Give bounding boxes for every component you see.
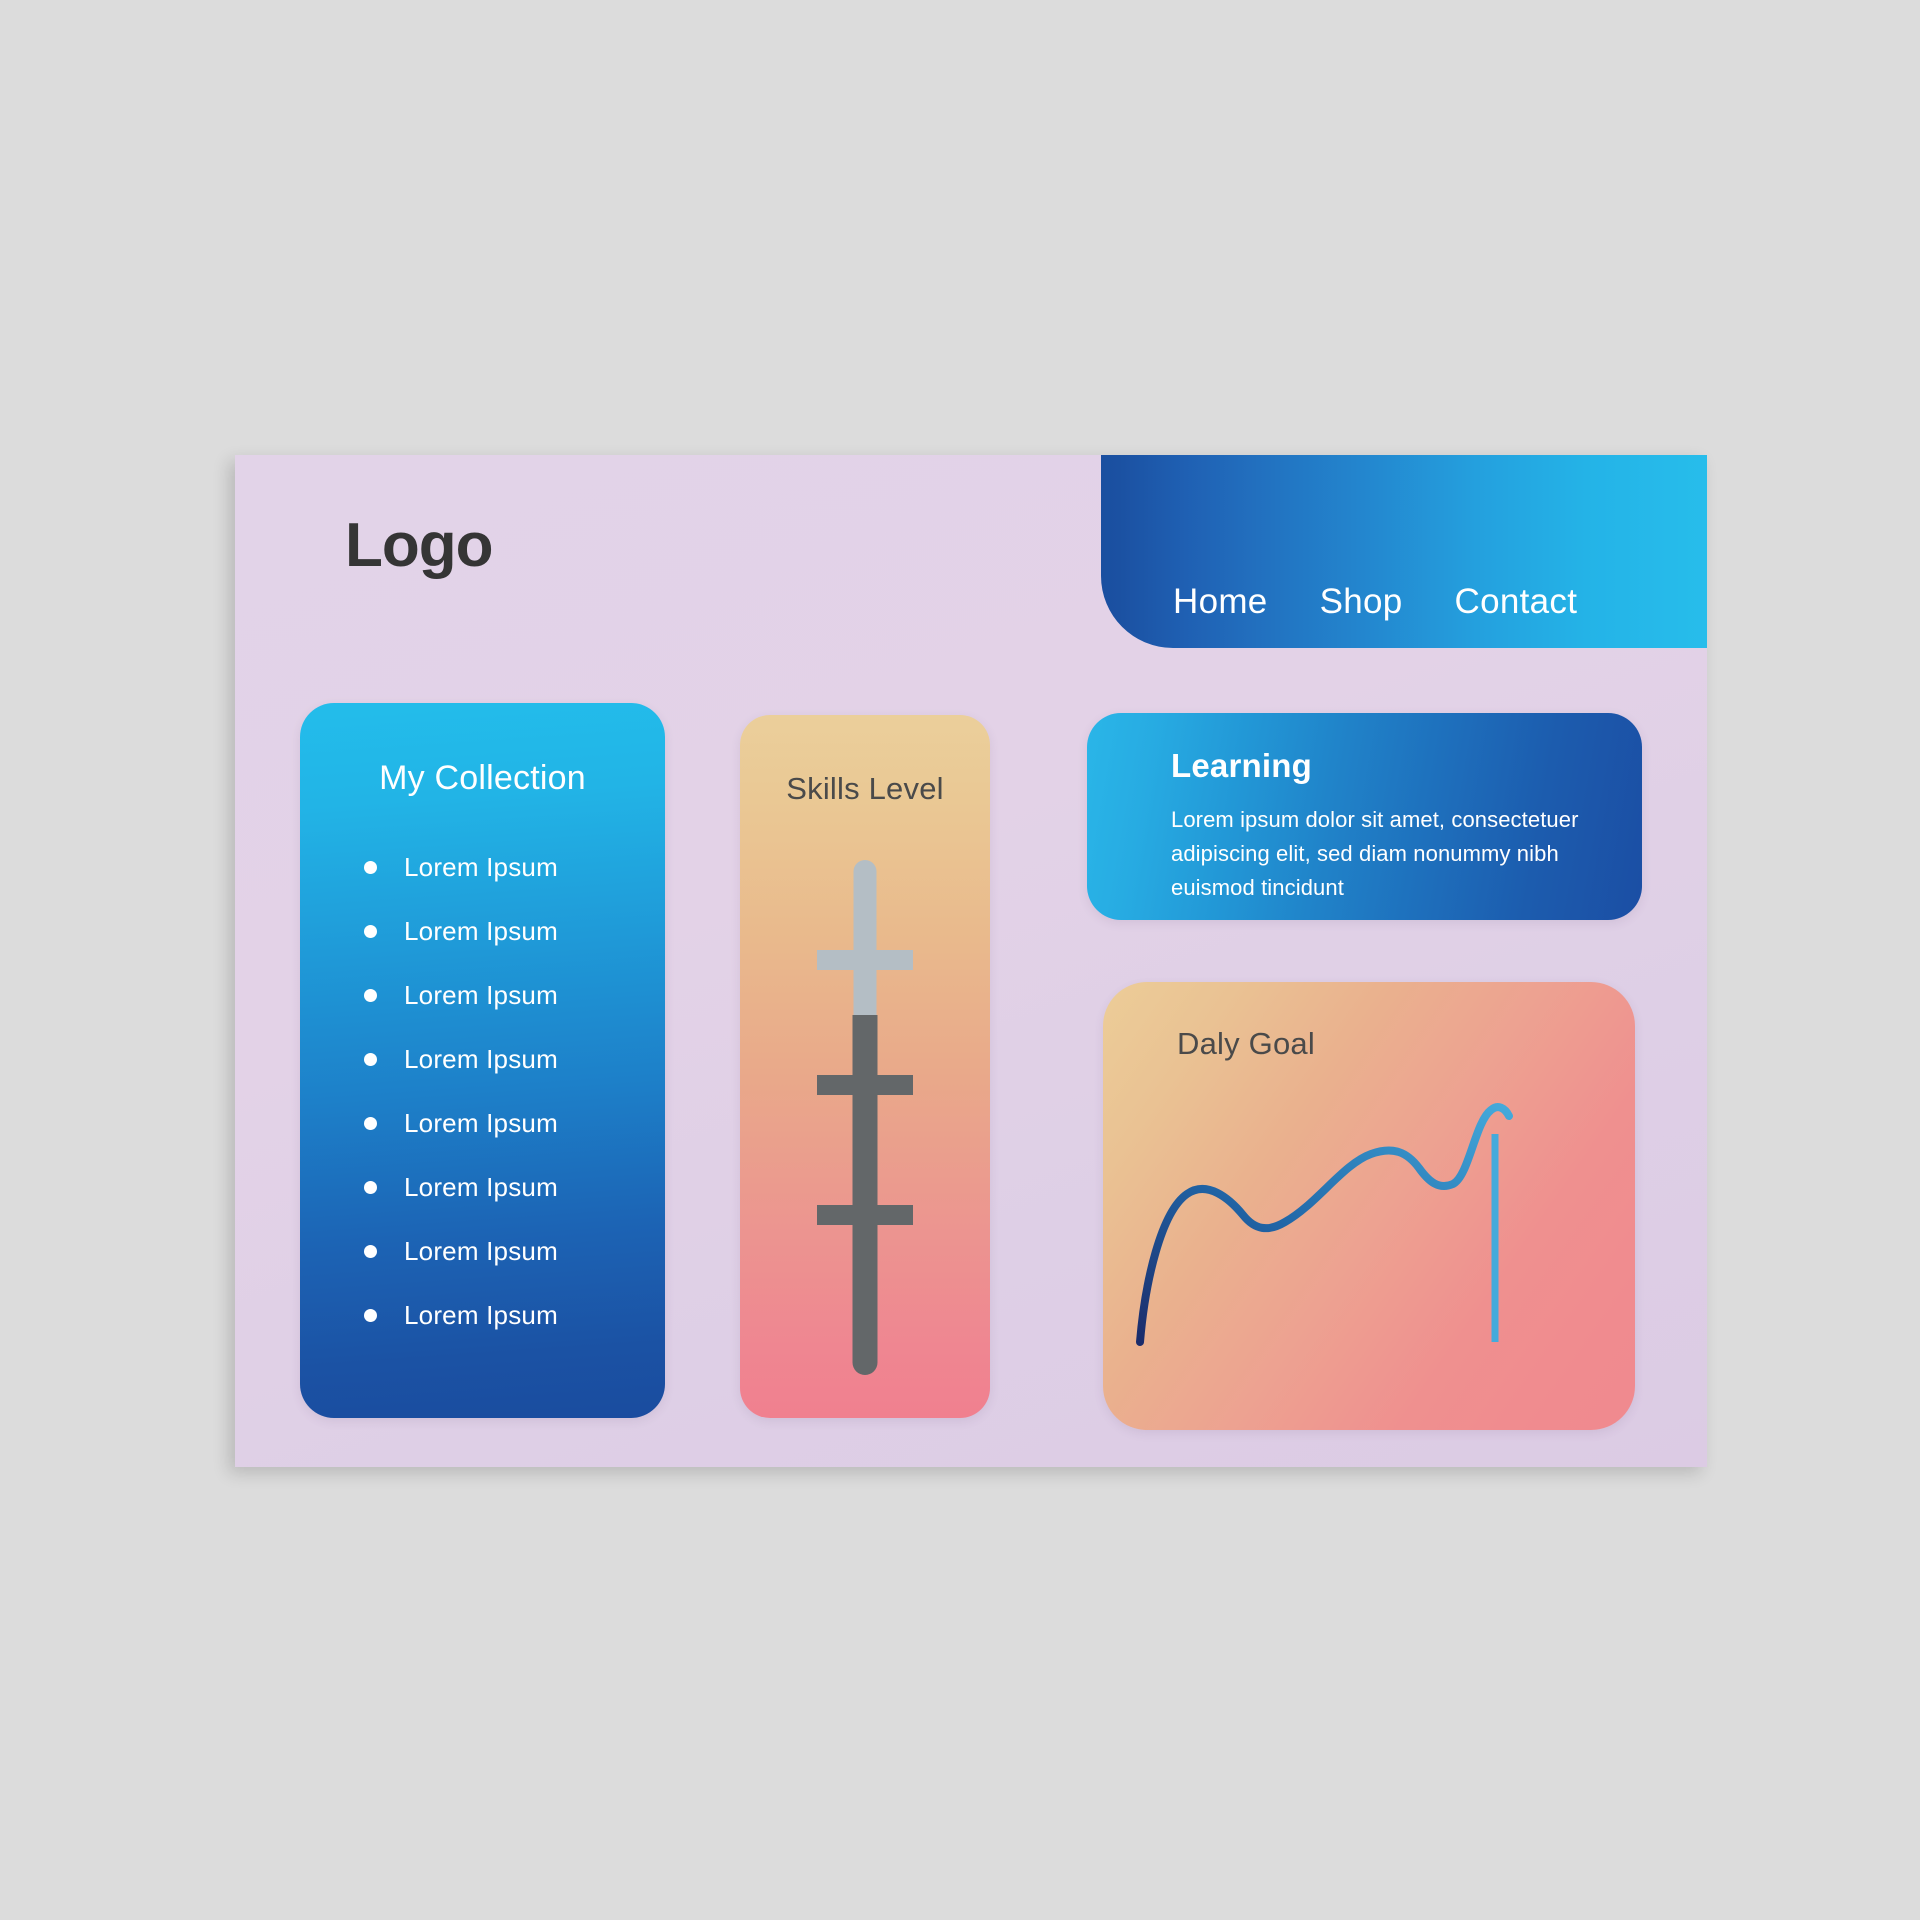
my-collection-card: My Collection Lorem Ipsum Lorem Ipsum Lo… bbox=[300, 703, 665, 1418]
collection-list: Lorem Ipsum Lorem Ipsum Lorem Ipsum Lore… bbox=[300, 854, 665, 1328]
chart-line-series bbox=[1140, 1107, 1509, 1342]
learning-card-body: Lorem ipsum dolor sit amet, consectetuer… bbox=[1171, 803, 1591, 905]
nav-links: Home Shop Contact bbox=[1101, 582, 1577, 622]
list-item[interactable]: Lorem Ipsum bbox=[364, 918, 665, 944]
list-item[interactable]: Lorem Ipsum bbox=[364, 854, 665, 880]
learning-card: Learning Lorem ipsum dolor sit amet, con… bbox=[1087, 713, 1642, 920]
nav-item-home[interactable]: Home bbox=[1173, 582, 1268, 622]
page-title: Logo bbox=[345, 515, 493, 577]
slider-tick-1[interactable] bbox=[817, 950, 913, 970]
mockup-artboard: Logo Home Shop Contact My Collection Lor… bbox=[235, 455, 1707, 1467]
slider-track-lower bbox=[853, 1015, 878, 1375]
list-item[interactable]: Lorem Ipsum bbox=[364, 982, 665, 1008]
daly-goal-line-chart bbox=[1103, 982, 1635, 1430]
top-navigation-bar: Home Shop Contact bbox=[1101, 455, 1707, 648]
screenshot-canvas: Logo Home Shop Contact My Collection Lor… bbox=[0, 0, 1920, 1920]
collection-card-title: My Collection bbox=[300, 759, 665, 798]
skills-level-card: Skills Level bbox=[740, 715, 990, 1418]
learning-card-title: Learning bbox=[1171, 747, 1596, 785]
list-item[interactable]: Lorem Ipsum bbox=[364, 1238, 665, 1264]
list-item[interactable]: Lorem Ipsum bbox=[364, 1302, 665, 1328]
nav-item-shop[interactable]: Shop bbox=[1320, 582, 1403, 622]
daly-goal-card: Daly Goal bbox=[1103, 982, 1635, 1430]
slider-track-upper bbox=[854, 860, 877, 1020]
skills-level-slider[interactable] bbox=[740, 715, 990, 1418]
nav-item-contact[interactable]: Contact bbox=[1455, 582, 1578, 622]
list-item[interactable]: Lorem Ipsum bbox=[364, 1110, 665, 1136]
list-item[interactable]: Lorem Ipsum bbox=[364, 1174, 665, 1200]
slider-tick-3[interactable] bbox=[817, 1205, 913, 1225]
skills-card-title: Skills Level bbox=[740, 771, 990, 807]
list-item[interactable]: Lorem Ipsum bbox=[364, 1046, 665, 1072]
slider-tick-2[interactable] bbox=[817, 1075, 913, 1095]
